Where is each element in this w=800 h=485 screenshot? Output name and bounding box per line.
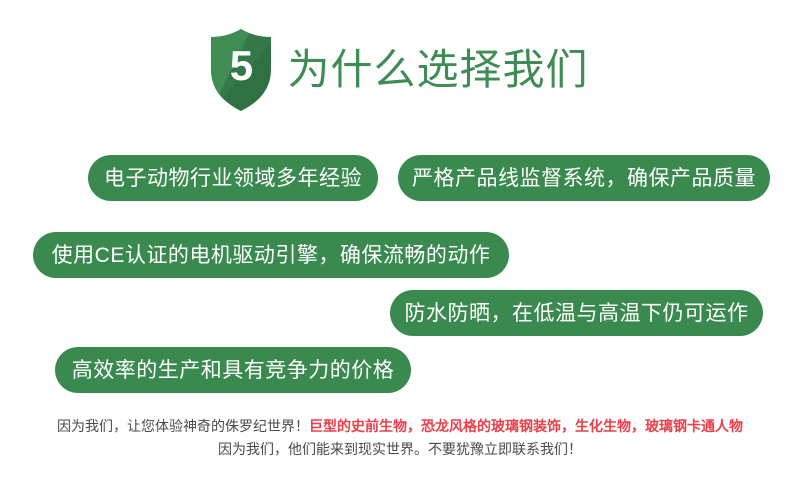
shield-icon: 5 bbox=[211, 29, 271, 111]
feature-pill-quality-control: 严格产品线监督系统，确保产品质量 bbox=[398, 155, 770, 201]
footer-line-2: 因为我们，他们能来到现实世界。不要犹豫立即联系我们！ bbox=[0, 438, 800, 461]
promo-banner: 5 为什么选择我们 电子动物行业领域多年经验 严格产品线监督系统，确保产品质量 … bbox=[0, 0, 800, 485]
feature-pill-label: 严格产品线监督系统，确保产品质量 bbox=[412, 168, 756, 189]
badge-number: 5 bbox=[211, 29, 271, 111]
header: 5 为什么选择我们 bbox=[0, 22, 800, 118]
feature-pill-efficiency-price: 高效率的生产和具有竞争力的价格 bbox=[55, 347, 411, 393]
page-title: 为什么选择我们 bbox=[287, 49, 588, 91]
feature-pill-ce-motor: 使用CE认证的电机驱动引擎，确保流畅的动作 bbox=[33, 232, 509, 278]
footer-line-1: 因为我们，让您体验神奇的侏罗纪世界！巨型的史前生物，恐龙风格的玻璃钢装饰，生化生… bbox=[0, 415, 800, 438]
feature-pill-label: 高效率的生产和具有竞争力的价格 bbox=[72, 360, 395, 381]
feature-pill-label: 电子动物行业领域多年经验 bbox=[104, 168, 362, 189]
feature-pill-label: 使用CE认证的电机驱动引擎，确保流畅的动作 bbox=[52, 245, 491, 266]
feature-pill-label: 防水防晒，在低温与高温下仍可运作 bbox=[405, 303, 749, 324]
footer-line-1-highlight: 巨型的史前生物，恐龙风格的玻璃钢装饰，生化生物，玻璃钢卡通人物 bbox=[309, 418, 743, 434]
feature-pill-experience: 电子动物行业领域多年经验 bbox=[88, 155, 378, 201]
feature-pill-weatherproof: 防水防晒，在低温与高温下仍可运作 bbox=[390, 290, 763, 336]
footer-line-1-prefix: 因为我们，让您体验神奇的侏罗纪世界！ bbox=[57, 418, 309, 434]
footer-paragraph: 因为我们，让您体验神奇的侏罗纪世界！巨型的史前生物，恐龙风格的玻璃钢装饰，生化生… bbox=[0, 415, 800, 461]
